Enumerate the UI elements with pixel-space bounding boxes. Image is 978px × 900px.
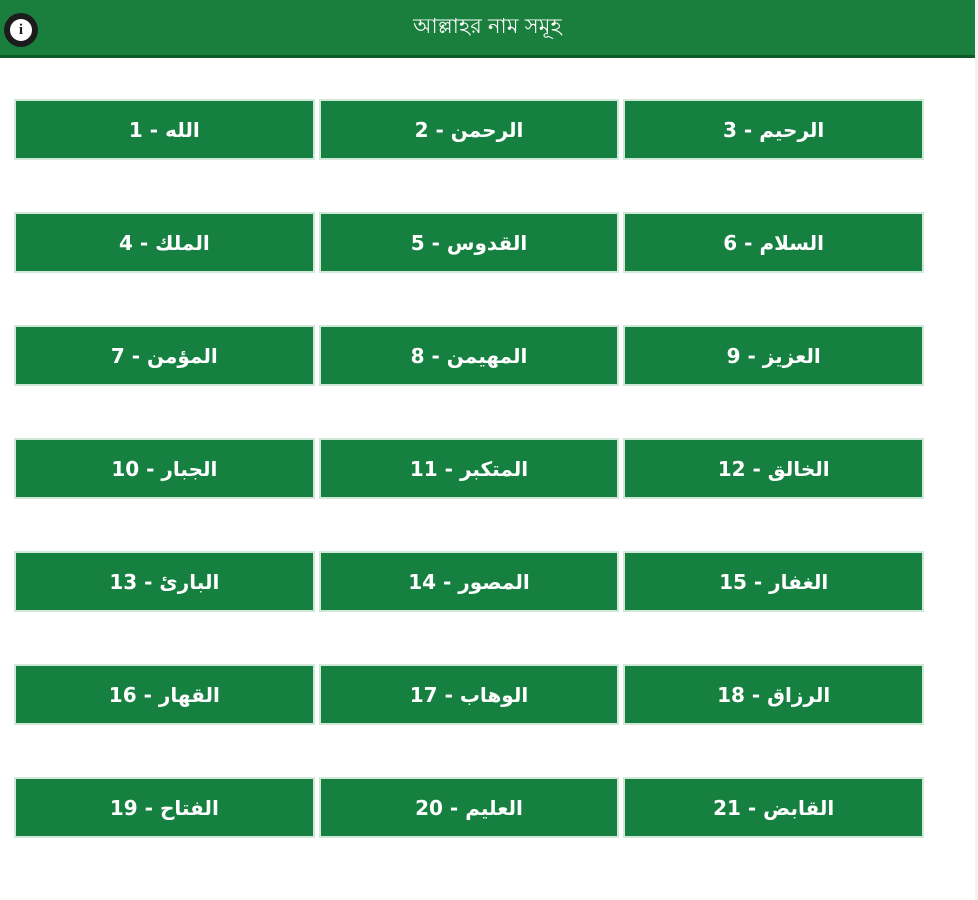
- name-cell[interactable]: المهيمن - 8: [319, 325, 620, 386]
- name-cell-label: الرحيم - 3: [723, 120, 824, 140]
- name-cell[interactable]: البارئ - 13: [14, 551, 315, 612]
- name-cell[interactable]: الرزاق - 18: [623, 664, 924, 725]
- name-cell[interactable]: القابض - 21: [623, 777, 924, 838]
- name-cell-label: الجبار - 10: [111, 459, 217, 479]
- name-cell-label: البارئ - 13: [109, 572, 219, 592]
- names-grid: الله - 1الرحمن - 2الرحيم - 3الملك - 4الق…: [14, 99, 924, 838]
- name-cell-label: الوهاب - 17: [410, 685, 528, 705]
- name-cell-label: المتكبر - 11: [410, 459, 528, 479]
- info-circle-icon[interactable]: i: [4, 13, 38, 47]
- name-cell-label: العليم - 20: [415, 798, 523, 818]
- info-glyph: i: [19, 23, 23, 38]
- name-cell-label: الغفار - 15: [719, 572, 828, 592]
- app-header: i আল্লাহর নাম সমূহ: [0, 0, 975, 58]
- name-cell-label: المهيمن - 8: [411, 346, 528, 366]
- name-cell[interactable]: القهار - 16: [14, 664, 315, 725]
- name-cell[interactable]: الرحمن - 2: [319, 99, 620, 160]
- name-cell[interactable]: المتكبر - 11: [319, 438, 620, 499]
- name-cell-label: المصور - 14: [408, 572, 530, 592]
- name-cell[interactable]: الفتاح - 19: [14, 777, 315, 838]
- name-cell-label: الرحمن - 2: [415, 120, 524, 140]
- name-cell[interactable]: العليم - 20: [319, 777, 620, 838]
- name-cell[interactable]: الوهاب - 17: [319, 664, 620, 725]
- name-cell-label: القهار - 16: [109, 685, 220, 705]
- name-cell[interactable]: الرحيم - 3: [623, 99, 924, 160]
- name-cell[interactable]: القدوس - 5: [319, 212, 620, 273]
- name-cell[interactable]: الغفار - 15: [623, 551, 924, 612]
- name-cell-label: العزيز - 9: [727, 346, 821, 366]
- name-cell[interactable]: السلام - 6: [623, 212, 924, 273]
- name-cell-label: الرزاق - 18: [717, 685, 830, 705]
- name-cell[interactable]: الجبار - 10: [14, 438, 315, 499]
- name-cell[interactable]: الخالق - 12: [623, 438, 924, 499]
- name-cell-label: الخالق - 12: [718, 459, 830, 479]
- name-cell-label: القدوس - 5: [411, 233, 528, 253]
- name-cell[interactable]: الله - 1: [14, 99, 315, 160]
- name-cell[interactable]: الملك - 4: [14, 212, 315, 273]
- page-title: আল্লাহর নাম সমূহ: [413, 16, 562, 39]
- name-cell-label: المؤمن - 7: [111, 346, 218, 366]
- info-disc: i: [10, 19, 32, 41]
- name-cell-label: الملك - 4: [119, 233, 210, 253]
- name-cell-label: الله - 1: [129, 120, 200, 140]
- names-area: الله - 1الرحمن - 2الرحيم - 3الملك - 4الق…: [0, 58, 978, 838]
- name-cell-label: السلام - 6: [723, 233, 824, 253]
- name-cell[interactable]: العزيز - 9: [623, 325, 924, 386]
- name-cell[interactable]: المؤمن - 7: [14, 325, 315, 386]
- name-cell[interactable]: المصور - 14: [319, 551, 620, 612]
- name-cell-label: الفتاح - 19: [110, 798, 219, 818]
- name-cell-label: القابض - 21: [713, 798, 834, 818]
